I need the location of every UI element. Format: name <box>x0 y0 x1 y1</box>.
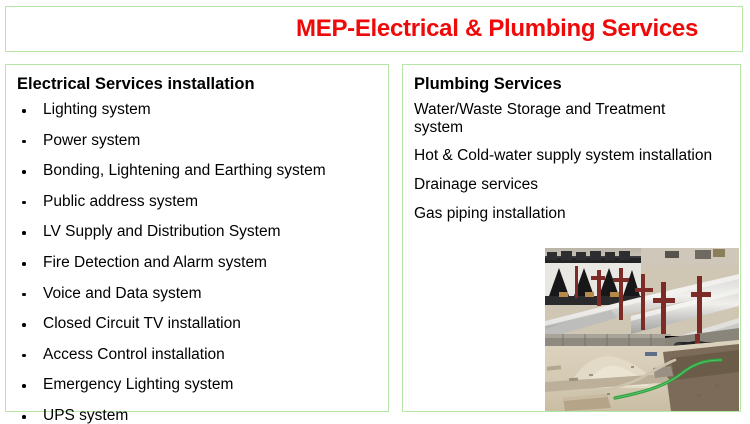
slide-root: MEP-Electrical & Plumbing Services Elect… <box>0 0 750 417</box>
list-item-label: Public address system <box>43 193 198 210</box>
page-title: MEP-Electrical & Plumbing Services <box>296 15 698 43</box>
bullet-dot-icon <box>22 384 26 388</box>
list-item-label: Lighting system <box>43 101 151 118</box>
bullet-dot-icon <box>22 262 26 266</box>
bullet-dot-icon <box>22 109 26 113</box>
plumbing-services-heading: Plumbing Services <box>414 75 562 95</box>
electrical-services-list: Lighting system Power system Bonding, Li… <box>17 102 382 423</box>
title-bar: MEP-Electrical & Plumbing Services <box>5 6 743 52</box>
list-item-label: LV Supply and Distribution System <box>43 223 281 240</box>
bullet-dot-icon <box>22 323 26 327</box>
photo-artwork <box>545 248 739 411</box>
list-item: Hot & Cold-water supply system installat… <box>414 147 714 165</box>
list-item: UPS system <box>17 408 382 424</box>
list-item: Bonding, Lightening and Earthing system <box>17 163 382 179</box>
bullet-dot-icon <box>22 231 26 235</box>
bullet-dot-icon <box>22 354 26 358</box>
list-item-label: Emergency Lighting system <box>43 376 233 393</box>
list-item: Access Control installation <box>17 347 382 363</box>
plumbing-services-panel: Plumbing Services Water/Waste Storage an… <box>402 64 741 412</box>
bullet-dot-icon <box>22 170 26 174</box>
list-item: Lighting system <box>17 102 382 118</box>
bullet-dot-icon <box>22 140 26 144</box>
list-item: Emergency Lighting system <box>17 377 382 393</box>
list-item: LV Supply and Distribution System <box>17 224 382 240</box>
list-item: Power system <box>17 133 382 149</box>
list-item-label: Closed Circuit TV installation <box>43 315 241 332</box>
list-item-label: Bonding, Lightening and Earthing system <box>43 162 326 179</box>
list-item: Closed Circuit TV installation <box>17 316 382 332</box>
bullet-dot-icon <box>22 201 26 205</box>
bullet-dot-icon <box>22 293 26 297</box>
list-item-label: Fire Detection and Alarm system <box>43 254 267 271</box>
list-item-label: Access Control installation <box>43 346 225 363</box>
list-item: Water/Waste Storage and Treatment system <box>414 101 714 136</box>
plumbing-services-list: Water/Waste Storage and Treatment system… <box>414 101 714 222</box>
list-item: Public address system <box>17 194 382 210</box>
list-item: Drainage services <box>414 176 714 194</box>
electrical-services-heading: Electrical Services installation <box>17 75 255 95</box>
list-item: Voice and Data system <box>17 286 382 302</box>
list-item-label: UPS system <box>43 407 128 424</box>
list-item-label: Power system <box>43 132 140 149</box>
list-item-label: Voice and Data system <box>43 285 202 302</box>
chiller-piping-construction-site-photo <box>545 248 739 411</box>
electrical-services-panel: Electrical Services installation Lightin… <box>5 64 389 412</box>
list-item: Gas piping installation <box>414 205 714 223</box>
list-item: Fire Detection and Alarm system <box>17 255 382 271</box>
